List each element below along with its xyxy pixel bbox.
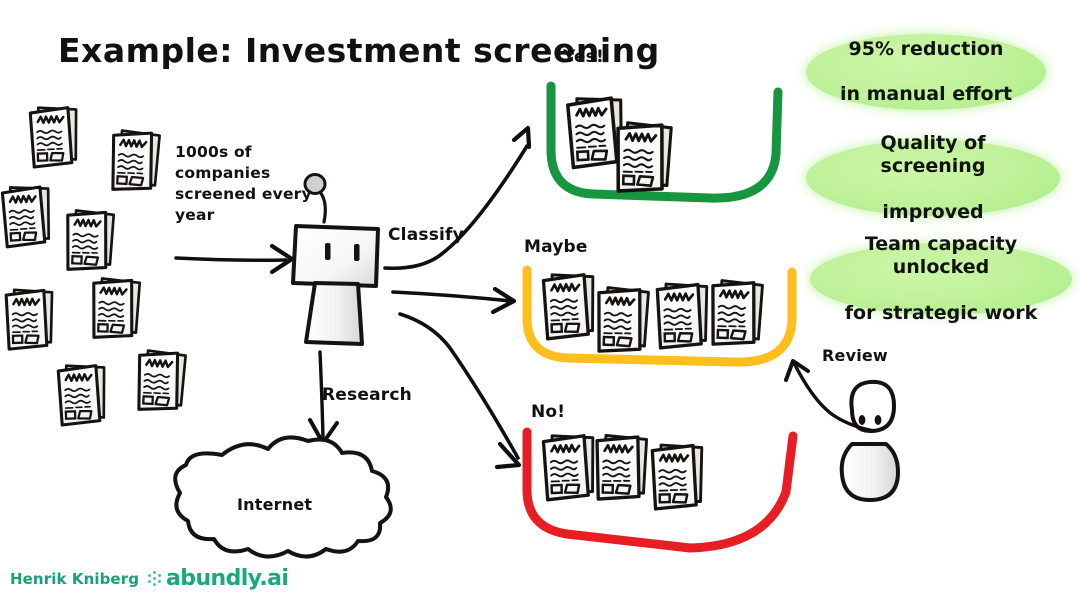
document-icon — [30, 106, 78, 167]
document-icon — [2, 186, 51, 247]
robot-eye-right — [354, 244, 360, 261]
review-label: Review — [822, 347, 888, 365]
slide-canvas: Example: Investment screening 1000s of c… — [0, 0, 1080, 597]
document-icon — [597, 287, 649, 352]
bucket-maybe — [527, 270, 792, 362]
input-document-pile — [2, 106, 186, 425]
callout-line-2: for strategic work — [824, 302, 1058, 325]
footer-author: Henrik Kniberg — [10, 570, 139, 588]
bucket-label-no: No! — [531, 403, 565, 423]
document-icon — [543, 434, 595, 499]
dot-grid-icon — [148, 571, 162, 587]
document-icon — [543, 273, 595, 338]
callout-line-1: 95% reduction — [826, 38, 1026, 61]
bucket-yes — [551, 86, 778, 198]
brand-logo[interactable]: abundly.ai — [148, 566, 288, 591]
document-icon — [711, 280, 763, 345]
document-icon — [657, 283, 708, 348]
callout-line-2: in manual effort — [826, 83, 1026, 106]
document-icon — [616, 122, 671, 192]
robot-eye-left — [325, 243, 331, 260]
document-icon — [6, 289, 53, 349]
document-icon — [567, 96, 624, 167]
bucket-no — [527, 432, 793, 548]
reviewer-person — [786, 361, 898, 500]
footer: Henrik Kniberg abundly.ai — [10, 566, 288, 591]
person-eye-right — [875, 415, 882, 425]
document-icon — [652, 444, 703, 509]
callout-capacity: Team capacity unlocked for strategic wor… — [810, 243, 1072, 315]
input-arrow — [176, 246, 292, 272]
bucket-label-yes: Yes! — [563, 48, 604, 68]
document-icon — [137, 350, 186, 411]
person-eye-left — [859, 415, 866, 425]
classify-label: Classify — [388, 226, 464, 246]
callout-line-1: Quality of screening — [820, 132, 1046, 178]
input-volume-note: 1000s of companies screened every year — [175, 142, 312, 226]
document-icon — [111, 130, 160, 191]
bucket-label-maybe: Maybe — [524, 238, 588, 258]
callout-line-1: Team capacity unlocked — [824, 233, 1058, 279]
callout-quality: Quality of screening improved — [806, 140, 1060, 216]
internet-label: Internet — [237, 496, 312, 514]
research-label: Research — [322, 386, 412, 406]
document-icon — [596, 435, 647, 500]
document-icon — [66, 210, 114, 271]
brand-name: abundly.ai — [166, 566, 288, 591]
callout-line-2: improved — [820, 201, 1046, 224]
callout-reduction: 95% reduction in manual effort — [806, 34, 1046, 110]
document-icon — [58, 364, 106, 425]
